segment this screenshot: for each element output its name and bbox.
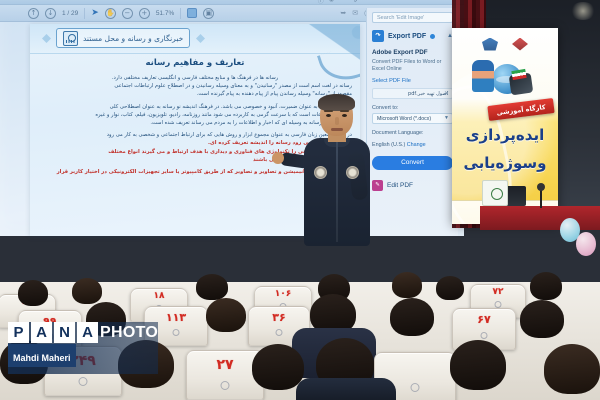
share-icon[interactable]: ➥: [340, 9, 346, 17]
seat-logo-icon: [221, 381, 230, 390]
slide-line: رسانه ها در فرهنگ ها و منابع مختلف فارسی…: [38, 74, 352, 82]
presenter: [296, 96, 380, 246]
projection-screen: ⓘ ◉ Sign In ↑ ↓ 1 / 29 ➤ ✋ − + 51.7% ▣ ➥…: [0, 0, 464, 236]
attendee-head: [390, 298, 434, 336]
status-dot-icon: [430, 34, 435, 39]
seat-logo-icon: [495, 301, 502, 308]
attendee-head: [252, 344, 304, 390]
convert-button[interactable]: Convert: [372, 156, 453, 170]
down-arrow-icon[interactable]: ↓: [45, 8, 56, 19]
attendee-head: [196, 274, 228, 300]
document-language-row: English (U.S.) Change: [372, 142, 453, 148]
edit-pdf-label: Edit PDF: [387, 182, 413, 189]
presenter-mouth: [331, 128, 343, 131]
presenter-emblem-left: [314, 166, 327, 179]
seat-logo-icon: [79, 377, 88, 386]
slide-line: رسانه در لغت اسم است از مصدر "رسانیدن" و…: [38, 82, 352, 90]
watermark-pana-letters: P A N A: [8, 322, 98, 343]
document-language-label: Document Language:: [372, 130, 453, 136]
presenter-brow-right: [340, 110, 349, 112]
seat-number: ۱۸: [131, 291, 187, 301]
selected-file-name: اصول تهیه خبر.pdf: [408, 91, 448, 97]
slide-org-title: خبرنگاری و رسانه و محل مستند: [83, 34, 183, 43]
banner-title-line1: ایده‌پردازی: [452, 126, 558, 144]
seat-logo-icon: [173, 329, 180, 336]
microphone-stand: [540, 188, 542, 208]
export-pdf-label: Export PDF: [388, 33, 426, 40]
zoom-in-icon[interactable]: +: [139, 8, 150, 19]
attendee-head: [544, 344, 600, 394]
presenter-hair: [318, 94, 355, 111]
watermark-letter: A: [77, 322, 98, 343]
ornament-left-icon: [42, 34, 51, 43]
banner-logo-icon-2: [512, 38, 528, 51]
presenter-jacket-zip: [336, 142, 338, 242]
seat-number: ۱۰۶: [255, 289, 311, 299]
seat-logo-icon: [481, 332, 488, 339]
select-pdf-file-link[interactable]: Select PDF File: [372, 78, 453, 84]
mail-icon[interactable]: ✉: [352, 9, 358, 17]
attendee-torso: [296, 378, 396, 400]
slide-header: خبرنگاری و رسانه و محل مستند: [30, 24, 360, 54]
banner-title-line2: وسوژه‌یابی: [452, 154, 558, 172]
zoom-out-icon[interactable]: −: [122, 8, 133, 19]
presenter-hand: [272, 152, 284, 164]
seat-number: ۷۲: [471, 287, 525, 297]
attendee-head: [436, 276, 464, 300]
close-icon[interactable]: ×: [444, 90, 449, 97]
attendee-head: [18, 280, 48, 306]
slide-heading: تعاریف و مفاهیم رسانه: [30, 58, 360, 68]
zoom-level[interactable]: 51.7%: [156, 10, 174, 17]
audience-area: ۱۸ ۲۰ ۱۰۶ ۷۲ ۹۹ ۱۱۳: [0, 228, 600, 400]
toolbar-divider-2: [180, 8, 181, 19]
seat-number: ۳۶: [249, 311, 309, 324]
tools-search-input[interactable]: Search 'Edit Image': [372, 12, 453, 23]
seat-logo-icon: [276, 329, 283, 336]
screenshot-root: ⓘ ◉ Sign In ↑ ↓ 1 / 29 ➤ ✋ − + 51.7% ▣ ➥…: [0, 0, 600, 400]
banner-logo-icon-1: [482, 38, 498, 51]
watermark-letter: A: [31, 322, 52, 343]
slide-org-plaque: خبرنگاری و رسانه و محل مستند: [56, 28, 190, 48]
presenter-eye-right: [342, 114, 347, 117]
change-language-link[interactable]: Change: [407, 142, 426, 148]
reporter-icon: [472, 60, 494, 92]
watermark: P A N A PHOTO Mahdi Maheri: [8, 322, 158, 367]
attendee-head: [530, 272, 562, 300]
sign-in-link[interactable]: Sign In: [348, 0, 368, 2]
watermark-credit: Mahdi Maheri: [13, 353, 71, 363]
presenter-eye-left: [326, 114, 331, 117]
convert-to-select[interactable]: Microsoft Word (*.docx) ▼: [372, 113, 453, 124]
edit-pdf-panel-header[interactable]: ✎ Edit PDF: [372, 180, 453, 191]
watermark-credit-bar: Mahdi Maheri: [8, 344, 76, 367]
attendee-head: [520, 300, 564, 338]
watermark-letter: N: [54, 322, 75, 343]
adobe-export-pdf-title: Adobe Export PDF: [372, 49, 453, 56]
attendee-head: [392, 272, 422, 298]
snapshot-icon[interactable]: ▣: [203, 8, 214, 19]
cursor-icon[interactable]: ➤: [91, 8, 99, 18]
organization-logo-icon: [63, 31, 78, 46]
export-pdf-panel-header[interactable]: ↷ Export PDF ▲: [372, 30, 453, 42]
standing-sign: [482, 180, 508, 206]
page-fit-icon[interactable]: [187, 8, 197, 18]
watermark-logo-row: P A N A PHOTO: [8, 322, 158, 343]
presenter-table: [480, 206, 600, 230]
chevron-down-icon[interactable]: ▼: [444, 115, 449, 121]
selected-file-chip[interactable]: اصول تهیه خبر.pdf ×: [372, 88, 453, 99]
export-pdf-icon: ↷: [372, 30, 384, 42]
attendee-head: [450, 340, 506, 390]
convert-to-label: Convert to:: [372, 105, 453, 111]
hand-icon[interactable]: ✋: [105, 8, 116, 19]
page-indicator[interactable]: 1 / 29: [62, 10, 78, 17]
export-description: Convert PDF Files to Word or Excel Onlin…: [372, 59, 453, 73]
presenter-nose: [335, 117, 339, 125]
attendee-head: [72, 278, 102, 304]
ceiling-light: [570, 2, 596, 20]
seat-logo-icon: [411, 383, 420, 392]
toolbar-divider: [84, 8, 85, 19]
up-arrow-icon[interactable]: ↑: [28, 8, 39, 19]
watermark-letter: P: [8, 322, 29, 343]
banner-badge-text: کارگاه آموزشی: [496, 103, 546, 117]
banner-illustration: [470, 50, 540, 102]
seat-number: ۶۷: [453, 313, 515, 326]
ornament-right-icon: [196, 34, 205, 43]
watermark-photo-text: PHOTO: [98, 324, 158, 342]
convert-to-value: Microsoft Word (*.docx): [377, 116, 431, 122]
presenter-brow-left: [324, 110, 333, 112]
presenter-emblem-right: [346, 166, 359, 179]
attendee-head: [206, 298, 246, 332]
